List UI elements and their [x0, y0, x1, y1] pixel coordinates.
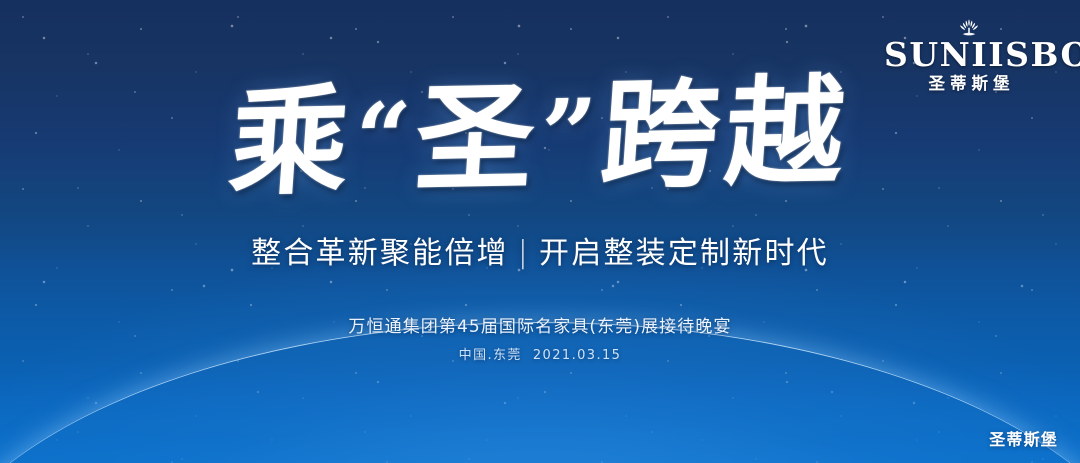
lotus-emblem-icon	[952, 17, 986, 37]
headline-emphasis: 圣	[411, 67, 545, 208]
logo-wordmark: SUNIISBO	[884, 38, 1054, 71]
event-title: 万恒通集团第45届国际名家具(东莞)展接待晚宴	[0, 312, 1080, 337]
headline-suffix: 跨越	[597, 61, 855, 205]
headline-open-quote: “	[351, 81, 420, 195]
headline-close-quote: ”	[536, 77, 605, 191]
watermark: 圣蒂斯堡	[989, 426, 1058, 450]
subtitle-right: 开启整装定制新时代	[539, 236, 829, 271]
subtitle-left: 整合革新聚能倍增	[251, 236, 509, 271]
event-date: 2021.03.15	[533, 348, 621, 363]
promo-banner: SUNIISBO 圣蒂斯堡 乘“圣”跨越 整合革新聚能倍增|开启整装定制新时代 …	[0, 0, 1080, 463]
subtitle-separator: |	[518, 235, 530, 270]
headline-prefix: 乘	[226, 71, 360, 212]
event-location: 中国.东莞	[459, 348, 522, 363]
headline: 乘“圣”跨越	[0, 68, 1080, 207]
subtitle: 整合革新聚能倍增|开启整装定制新时代	[0, 228, 1080, 272]
event-meta: 中国.东莞 2021.03.15	[0, 344, 1080, 363]
